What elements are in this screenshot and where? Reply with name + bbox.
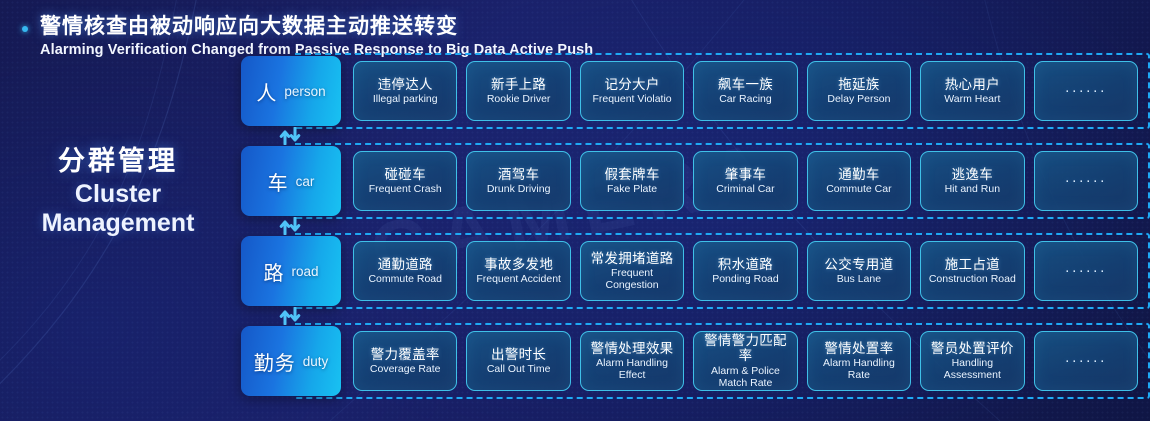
card-label-en: Ponding Road xyxy=(712,273,779,285)
card-label-en: Commute Road xyxy=(368,273,442,285)
category-tab-person[interactable]: 人person xyxy=(241,56,341,126)
cluster-row-person: 人person违停达人Illegal parking新手上路Rookie Dri… xyxy=(241,56,1150,126)
left-panel-title-en-line2: Management xyxy=(0,209,236,238)
card-label-en: Criminal Car xyxy=(716,183,774,195)
card-label-en: Illegal parking xyxy=(373,93,438,105)
card-item[interactable]: 出警时长Call Out Time xyxy=(466,331,570,391)
card-label-cn: 警员处置评价 xyxy=(931,341,1014,356)
card-label-cn: 警情处理效果 xyxy=(591,341,674,356)
card-item[interactable]: 酒驾车Drunk Driving xyxy=(466,151,570,211)
card-label-cn: 公交专用道 xyxy=(824,257,893,272)
cluster-row-duty: 勤务duty警力覆盖率Coverage Rate出警时长Call Out Tim… xyxy=(241,326,1150,396)
card-label-cn: 出警时长 xyxy=(491,347,546,362)
category-tab-car[interactable]: 车car xyxy=(241,146,341,216)
card-label-cn: 碰碰车 xyxy=(385,167,426,182)
category-label-en: road xyxy=(291,264,318,279)
card-item[interactable]: 常发拥堵道路Frequent Congestion xyxy=(580,241,684,301)
card-label-en: Delay Person xyxy=(827,93,890,105)
bidirectional-arrows-icon xyxy=(275,126,307,146)
category-label-cn: 勤务 xyxy=(254,347,296,376)
card-label-cn: 违停达人 xyxy=(378,77,433,92)
card-label-cn: 假套牌车 xyxy=(604,167,659,182)
category-label-cn: 路 xyxy=(263,257,284,286)
card-label-cn: 常发拥堵道路 xyxy=(591,251,674,266)
card-label-cn: 警情处置率 xyxy=(824,341,893,356)
card-label-cn: 积水道路 xyxy=(718,257,773,272)
card-item[interactable]: 拖延族Delay Person xyxy=(807,61,911,121)
cluster-row-road: 路road通勤道路Commute Road事故多发地Frequent Accid… xyxy=(241,236,1150,306)
card-label-cn: 警力覆盖率 xyxy=(371,347,440,362)
card-item[interactable]: 通勤车Commute Car xyxy=(807,151,911,211)
card-label-en: Car Racing xyxy=(719,93,772,105)
category-label-en: car xyxy=(296,174,315,189)
card-item[interactable]: 通勤道路Commute Road xyxy=(353,241,457,301)
card-item[interactable]: 事故多发地Frequent Accident xyxy=(466,241,570,301)
cards-container: 通勤道路Commute Road事故多发地Frequent Accident常发… xyxy=(341,236,1150,306)
card-item[interactable]: 警情处置率Alarm Handling Rate xyxy=(807,331,911,391)
category-label-en: person xyxy=(284,84,325,99)
card-item[interactable]: 逃逸车Hit and Run xyxy=(920,151,1024,211)
card-label-en: Bus Lane xyxy=(837,273,881,285)
card-label-en: Warm Heart xyxy=(944,93,1000,105)
card-label-cn: ······ xyxy=(1065,353,1107,370)
card-label-cn: 逃逸车 xyxy=(952,167,993,182)
card-more-placeholder[interactable]: ······ xyxy=(1034,151,1138,211)
card-label-cn: 飙车一族 xyxy=(718,77,773,92)
card-label-en: Commute Car xyxy=(826,183,891,195)
category-label-en: duty xyxy=(303,354,329,369)
card-label-cn: 肇事车 xyxy=(725,167,766,182)
card-item[interactable]: 飙车一族Car Racing xyxy=(693,61,797,121)
bullet-dot-icon xyxy=(22,26,28,32)
card-label-cn: 新手上路 xyxy=(491,77,546,92)
card-item[interactable]: 警力覆盖率Coverage Rate xyxy=(353,331,457,391)
card-label-en: Alarm Handling Rate xyxy=(811,357,907,381)
bidirectional-arrows-icon xyxy=(275,306,307,326)
card-label-en: Frequent Congestion xyxy=(584,267,680,291)
card-label-cn: 拖延族 xyxy=(838,77,879,92)
cards-container: 违停达人Illegal parking新手上路Rookie Driver记分大户… xyxy=(341,56,1150,126)
left-panel: 分群管理 Cluster Management xyxy=(0,146,236,238)
category-tab-duty[interactable]: 勤务duty xyxy=(241,326,341,396)
card-label-en: Frequent Violatio xyxy=(592,93,671,105)
card-item[interactable]: 警员处置评价Handling Assessment xyxy=(920,331,1024,391)
card-label-cn: ······ xyxy=(1065,263,1107,280)
card-label-en: Call Out Time xyxy=(487,363,551,375)
card-label-cn: 热心用户 xyxy=(945,77,1000,92)
card-label-en: Rookie Driver xyxy=(487,93,551,105)
card-item[interactable]: 新手上路Rookie Driver xyxy=(466,61,570,121)
card-label-cn: 酒驾车 xyxy=(498,167,539,182)
card-label-en: Alarm & Police Match Rate xyxy=(697,365,793,389)
card-item[interactable]: 碰碰车Frequent Crash xyxy=(353,151,457,211)
card-label-cn: 通勤车 xyxy=(838,167,879,182)
card-item[interactable]: 肇事车Criminal Car xyxy=(693,151,797,211)
bidirectional-arrows-icon xyxy=(275,216,307,236)
category-tab-road[interactable]: 路road xyxy=(241,236,341,306)
card-item[interactable]: 假套牌车Fake Plate xyxy=(580,151,684,211)
card-label-en: Hit and Run xyxy=(945,183,1000,195)
category-label-cn: 人 xyxy=(256,77,277,106)
card-label-en: Alarm Handling Effect xyxy=(584,357,680,381)
left-panel-title-en-line1: Cluster xyxy=(0,180,236,209)
card-more-placeholder[interactable]: ······ xyxy=(1034,331,1138,391)
card-item[interactable]: 警情警力匹配率Alarm & Police Match Rate xyxy=(693,331,797,391)
card-label-cn: 施工占道 xyxy=(945,257,1000,272)
card-label-en: Coverage Rate xyxy=(370,363,441,375)
card-item[interactable]: 积水道路Ponding Road xyxy=(693,241,797,301)
card-label-cn: 记分大户 xyxy=(604,77,659,92)
cards-container: 警力覆盖率Coverage Rate出警时长Call Out Time警情处理效… xyxy=(341,326,1150,396)
cards-container: 碰碰车Frequent Crash酒驾车Drunk Driving假套牌车Fak… xyxy=(341,146,1150,216)
card-more-placeholder[interactable]: ······ xyxy=(1034,241,1138,301)
card-label-cn: ······ xyxy=(1065,173,1107,190)
card-label-en: Handling Assessment xyxy=(924,357,1020,381)
card-label-cn: 事故多发地 xyxy=(484,257,553,272)
card-label-cn: 通勤道路 xyxy=(378,257,433,272)
card-item[interactable]: 记分大户Frequent Violatio xyxy=(580,61,684,121)
card-label-en: Frequent Accident xyxy=(476,273,561,285)
cluster-row-car: 车car碰碰车Frequent Crash酒驾车Drunk Driving假套牌… xyxy=(241,146,1150,216)
card-label-en: Drunk Driving xyxy=(487,183,551,195)
page-header: 警情核查由被动响应向大数据主动推送转变 Alarming Verificatio… xyxy=(22,10,593,58)
card-label-en: Frequent Crash xyxy=(369,183,442,195)
card-label-en: Fake Plate xyxy=(607,183,657,195)
card-label-cn: ······ xyxy=(1065,83,1107,100)
card-item[interactable]: 施工占道Construction Road xyxy=(920,241,1024,301)
card-item[interactable]: 违停达人Illegal parking xyxy=(353,61,457,121)
card-item[interactable]: 警情处理效果Alarm Handling Effect xyxy=(580,331,684,391)
card-item[interactable]: 热心用户Warm Heart xyxy=(920,61,1024,121)
card-more-placeholder[interactable]: ······ xyxy=(1034,61,1138,121)
category-label-cn: 车 xyxy=(268,167,289,196)
card-label-en: Construction Road xyxy=(929,273,1016,285)
page-title-cn: 警情核查由被动响应向大数据主动推送转变 xyxy=(40,10,593,40)
card-item[interactable]: 公交专用道Bus Lane xyxy=(807,241,911,301)
cluster-rows-container: 人person违停达人Illegal parking新手上路Rookie Dri… xyxy=(241,56,1150,396)
card-label-cn: 警情警力匹配率 xyxy=(697,333,793,363)
left-panel-title-cn: 分群管理 xyxy=(0,146,236,178)
